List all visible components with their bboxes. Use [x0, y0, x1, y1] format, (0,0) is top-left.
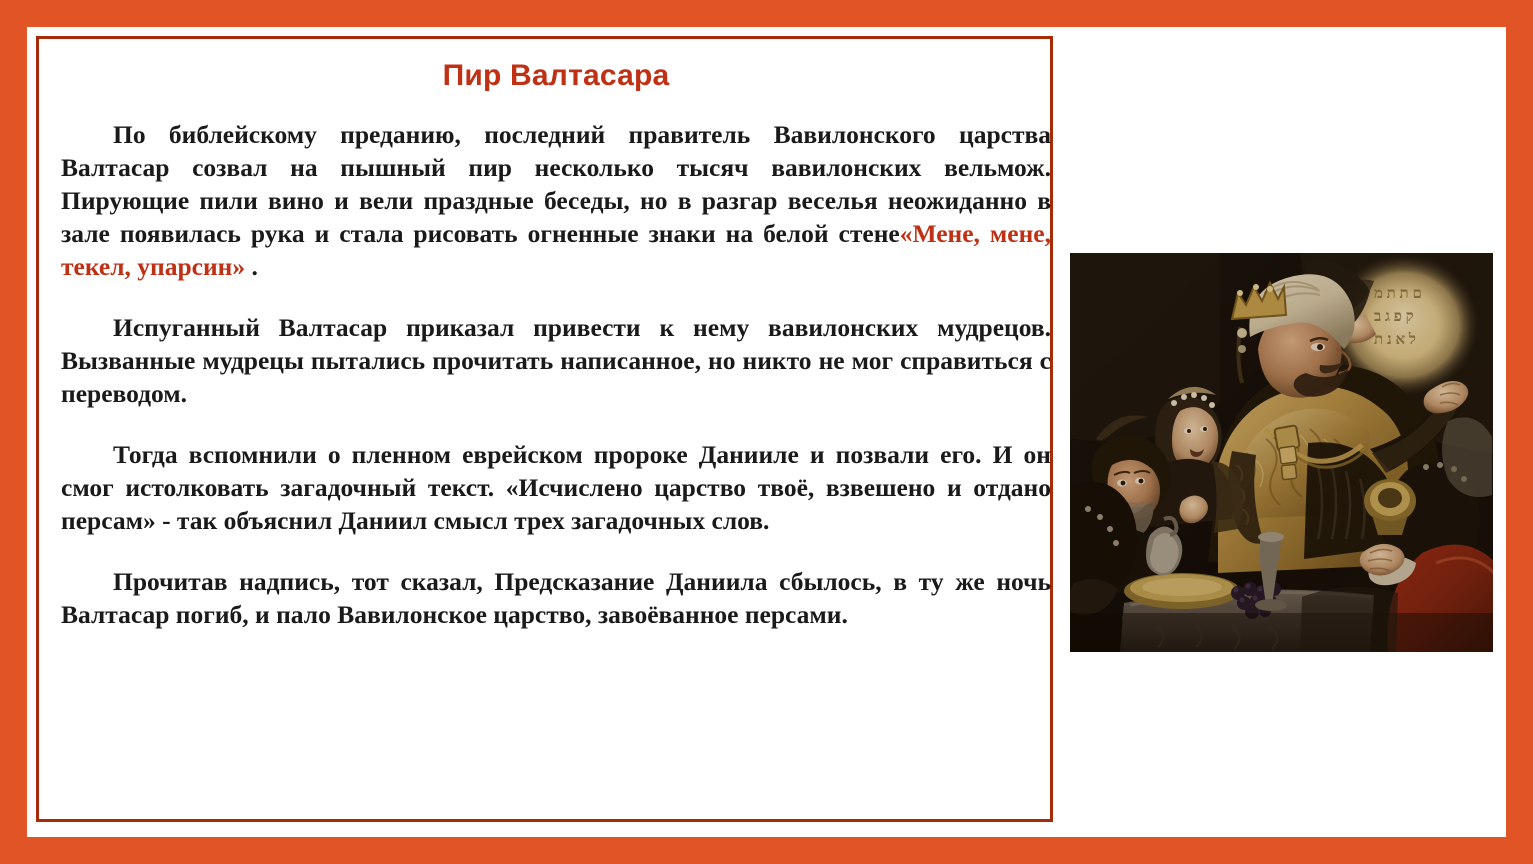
paragraph-3: Тогда вспомнили о пленном еврейском прор… — [61, 438, 1051, 537]
paragraph-2: Испуганный Валтасар приказал привести к … — [61, 311, 1051, 410]
paragraph-1-text-after-accent: . — [245, 252, 258, 281]
panel-body: Пир Валтасара По библейскому преданию, п… — [61, 47, 1051, 817]
paragraph-4: Прочитав надпись, тот сказал, Предсказан… — [61, 565, 1051, 631]
text-panel: Пир Валтасара По библейскому преданию, п… — [36, 36, 1053, 822]
painting-artwork: ם ת ת מ ק פ ג ב ל א נ ת — [1070, 253, 1493, 652]
slide: Пир Валтасара По библейскому преданию, п… — [0, 0, 1533, 864]
page-title: Пир Валтасара — [61, 47, 1051, 92]
paragraph-1: По библейскому преданию, последний прави… — [61, 118, 1051, 283]
belshazzars-feast-painting: ם ת ת מ ק פ ג ב ל א נ ת — [1070, 253, 1493, 652]
